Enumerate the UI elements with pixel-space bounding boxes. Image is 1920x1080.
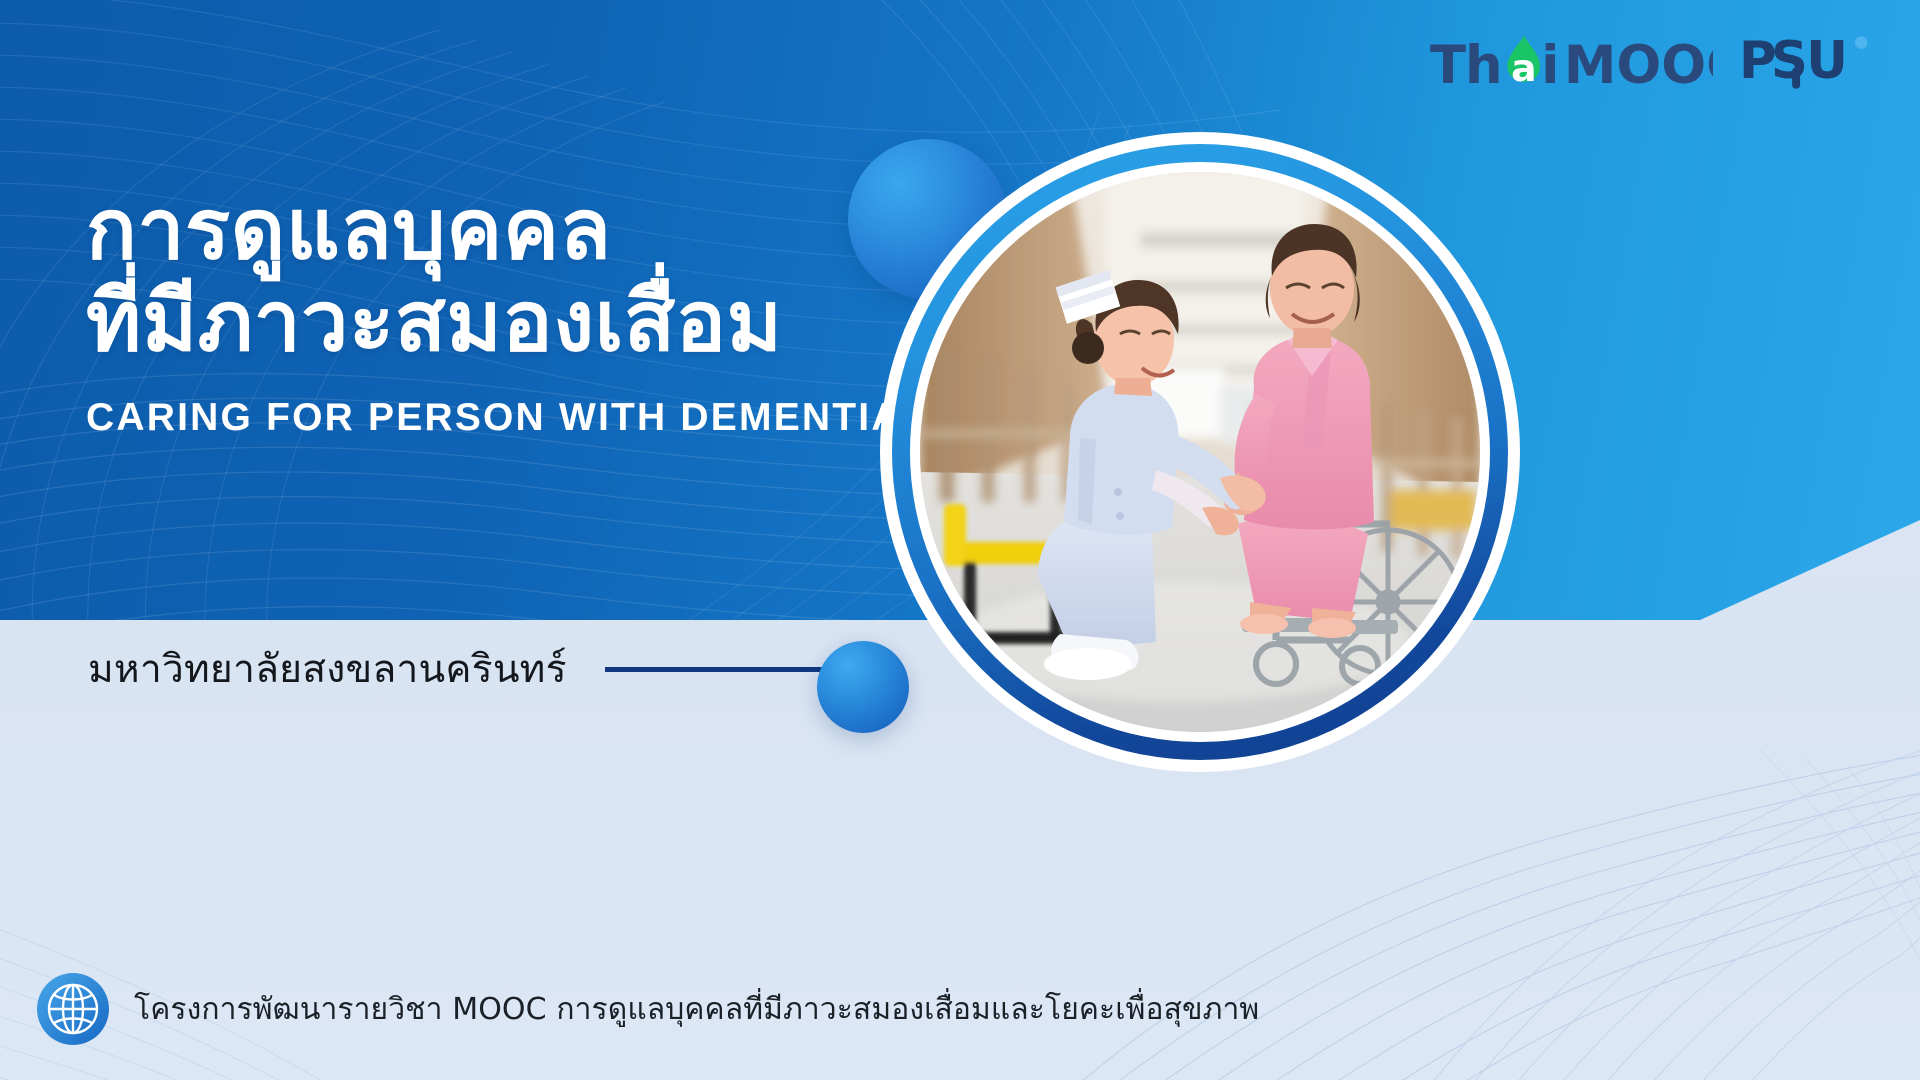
footer-text: โครงการพัฒนารายวิชา MOOC การดูแลบุคคลที่… <box>134 986 1259 1033</box>
organization-row: มหาวิทยาลัยสงขลานครินทร์ <box>88 638 873 700</box>
photo-image <box>920 172 1480 732</box>
svg-text:P: P <box>1739 32 1775 91</box>
thai-mooc-logo[interactable]: Th i MOOC a <box>1430 30 1713 96</box>
svg-text:MOOC: MOOC <box>1564 35 1713 96</box>
svg-text:U: U <box>1806 32 1845 91</box>
slide-canvas: Th i MOOC a P S U การดูแลบุคคล ที่มีภาวะ… <box>0 0 1920 1080</box>
globe-icon <box>36 972 110 1046</box>
hero-photo <box>880 132 1520 772</box>
svg-text:i: i <box>1542 35 1559 96</box>
psu-logo[interactable]: P S U <box>1739 32 1872 94</box>
svg-text:Th: Th <box>1430 35 1502 96</box>
logo-group: Th i MOOC a P S U <box>1430 30 1872 96</box>
organization-name: มหาวิทยาลัยสงขลานครินทร์ <box>88 638 567 700</box>
footer-bar: โครงการพัฒนารายวิชา MOOC การดูแลบุคคลที่… <box>36 972 1259 1046</box>
svg-text:a: a <box>1511 46 1536 90</box>
photo-illustration <box>920 172 1480 732</box>
